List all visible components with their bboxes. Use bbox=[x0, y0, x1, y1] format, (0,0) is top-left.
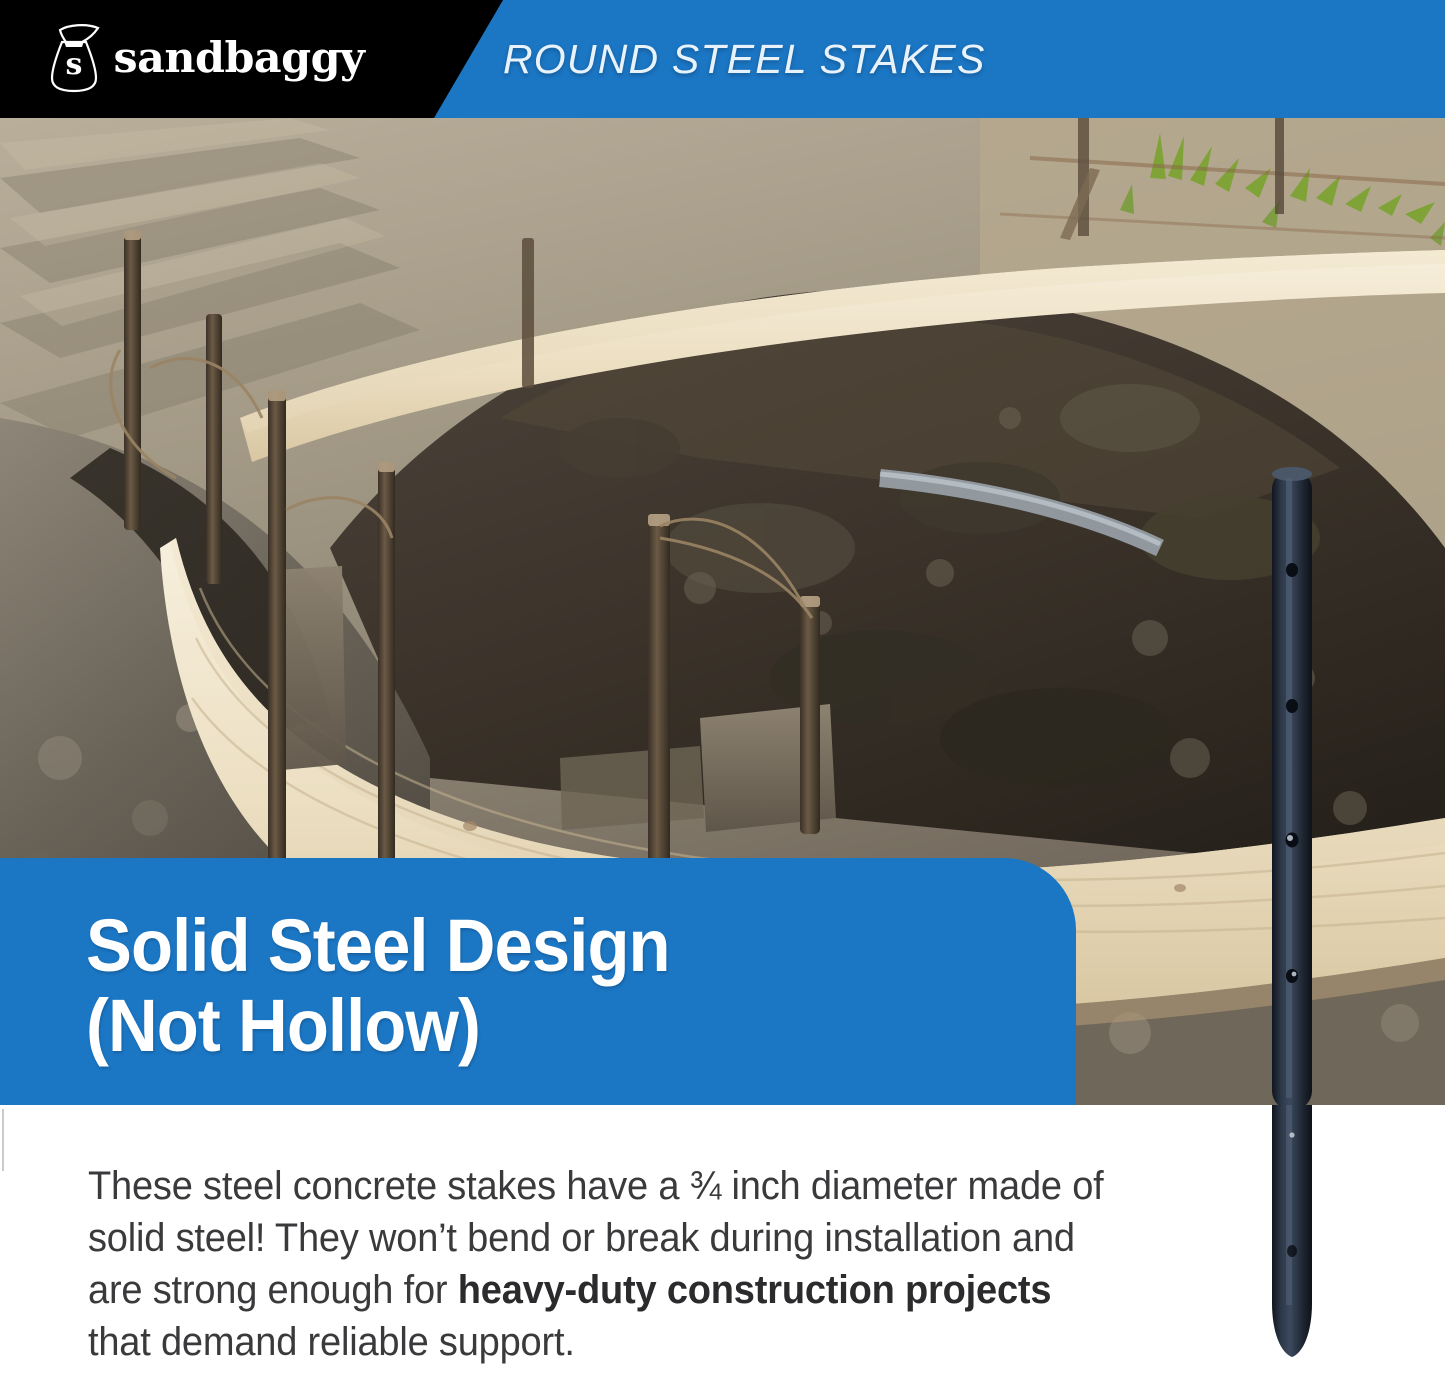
headline-text: Solid Steel Design (Not Hollow) bbox=[86, 906, 970, 1066]
headline-line-1: Solid Steel Design bbox=[86, 904, 670, 987]
headline-panel: Solid Steel Design (Not Hollow) bbox=[0, 858, 1076, 1105]
description-section: These steel concrete stakes have a ¾ inc… bbox=[0, 1105, 1445, 1388]
description-bold-phrase: heavy-duty construction projects bbox=[458, 1268, 1052, 1312]
sandbag-icon: s bbox=[48, 22, 104, 94]
brand-logo[interactable]: s sandbaggy bbox=[48, 22, 362, 94]
infographic-page: s sandbaggy ROUND STEEL STAKES bbox=[0, 0, 1445, 1388]
description-part-2: that demand reliable support. bbox=[88, 1320, 575, 1364]
headline-line-2: (Not Hollow) bbox=[86, 986, 970, 1066]
round-steel-stake bbox=[1272, 467, 1312, 1105]
left-rule-divider bbox=[2, 1109, 4, 1171]
header-bar: s sandbaggy ROUND STEEL STAKES bbox=[0, 0, 1445, 118]
svg-text:s: s bbox=[66, 47, 83, 82]
header-title: ROUND STEEL STAKES bbox=[503, 0, 986, 118]
description-paragraph: These steel concrete stakes have a ¾ inc… bbox=[88, 1160, 1105, 1368]
brand-wordmark: sandbaggy bbox=[114, 37, 365, 79]
round-steel-stake-tip bbox=[1272, 1105, 1320, 1365]
